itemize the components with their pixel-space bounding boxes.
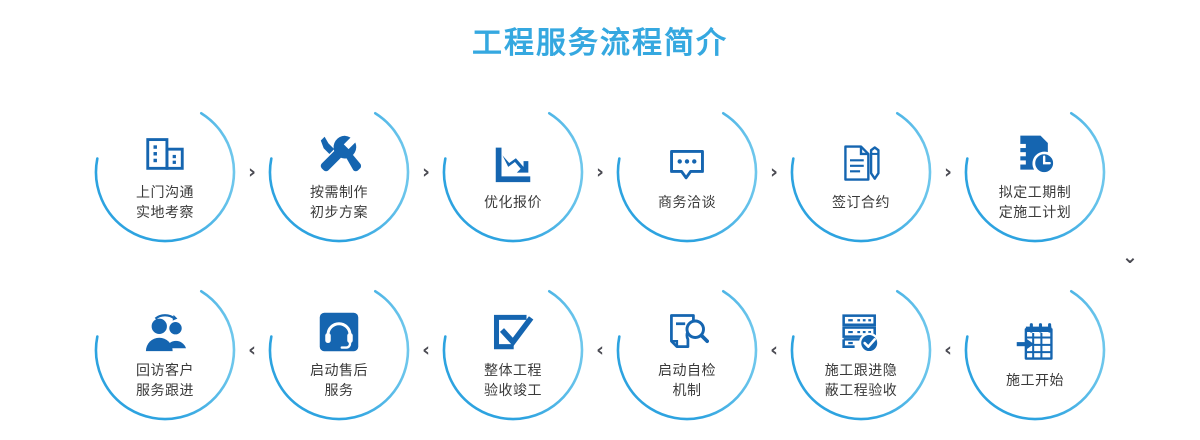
flow-step-content: 施工开始 [977, 310, 1093, 390]
flow-arrow-right: › [414, 160, 438, 184]
document-search-icon [661, 304, 713, 354]
flow-arrow-left: ‹ [762, 338, 786, 362]
declining-chart-icon [487, 136, 539, 186]
flow-step-label: 优化报价 [484, 192, 542, 212]
flow-step-youhua-baojia[interactable]: 优化报价 [438, 97, 588, 247]
flow-step-zhengti-gongcheng[interactable]: 整体工程 验收竣工 [438, 275, 588, 425]
flow-step-label: 商务洽谈 [658, 192, 716, 212]
flow-step-label: 启动售后 服务 [310, 360, 368, 400]
flow-step-label: 拟定工期制 定施工计划 [999, 182, 1072, 222]
flow-step-label: 启动自检 机制 [658, 360, 716, 400]
flow-step-label: 回访客户 服务跟进 [136, 360, 194, 400]
flow-step-shangwu-qiatan[interactable]: 商务洽谈 [612, 97, 762, 247]
flow-step-huifang-kehu[interactable]: 回访客户 服务跟进 [90, 275, 240, 425]
customers-icon [139, 304, 191, 354]
flow-step-content: 回访客户 服务跟进 [107, 300, 223, 400]
flow-step-qianding-heyue[interactable]: 签订合约 [786, 97, 936, 247]
flow-step-content: 签订合约 [803, 132, 919, 212]
headset-icon [313, 304, 365, 354]
flow-step-label: 签订合约 [832, 192, 890, 212]
flow-step-label: 按需制作 初步方案 [310, 182, 368, 222]
flow-step-shangmen-goutong[interactable]: 上门沟通 实地考察 [90, 97, 240, 247]
flow-step-content: 上门沟通 实地考察 [107, 122, 223, 222]
flow-arrow-right: › [762, 160, 786, 184]
flow-step-qidong-shouhou[interactable]: 启动售后 服务 [264, 275, 414, 425]
flow-row-1: 上门沟通 实地考察 › 按需制作 初步方案 › [0, 92, 1200, 252]
flow-step-label: 施工开始 [1006, 370, 1064, 390]
contract-pen-icon [835, 136, 887, 186]
flow-row-2: 回访客户 服务跟进 ‹ 启动售后 服务 [0, 270, 1200, 430]
server-check-icon [835, 304, 887, 354]
flow-step-shigong-genjin[interactable]: 施工跟进隐 蔽工程验收 [786, 275, 936, 425]
calendar-start-icon [1009, 314, 1061, 364]
checkbox-check-icon [487, 304, 539, 354]
speech-bubble-icon [661, 136, 713, 186]
tools-icon [313, 126, 365, 176]
flow-step-content: 启动售后 服务 [281, 300, 397, 400]
document-clock-icon [1009, 126, 1061, 176]
flow-step-content: 施工跟进隐 蔽工程验收 [803, 300, 919, 400]
process-flow-diagram: 上门沟通 实地考察 › 按需制作 初步方案 › [0, 92, 1200, 430]
flow-arrow-left: ‹ [588, 338, 612, 362]
flow-step-qidong-zijian[interactable]: 启动自检 机制 [612, 275, 762, 425]
flow-step-shigong-kaishi[interactable]: 施工开始 [960, 275, 1110, 425]
flow-arrow-left: ‹ [240, 338, 264, 362]
flow-step-content: 按需制作 初步方案 [281, 122, 397, 222]
flow-step-label: 整体工程 验收竣工 [484, 360, 542, 400]
flow-arrow-left: ‹ [414, 338, 438, 362]
flow-arrow-right: › [588, 160, 612, 184]
flow-arrow-right: › [936, 160, 960, 184]
flow-arrow-left: ‹ [936, 338, 960, 362]
flow-step-content: 拟定工期制 定施工计划 [977, 122, 1093, 222]
flow-step-label: 上门沟通 实地考察 [136, 182, 194, 222]
flow-step-content: 启动自检 机制 [629, 300, 745, 400]
flow-step-niding-gongqi[interactable]: 拟定工期制 定施工计划 [960, 97, 1110, 247]
flow-step-content: 商务洽谈 [629, 132, 745, 212]
flow-step-anxu-zhizuo[interactable]: 按需制作 初步方案 [264, 97, 414, 247]
building-icon [139, 126, 191, 176]
flow-step-content: 优化报价 [455, 132, 571, 212]
flow-step-content: 整体工程 验收竣工 [455, 300, 571, 400]
flow-step-label: 施工跟进隐 蔽工程验收 [825, 360, 898, 400]
flow-arrow-down: ⌄ [1118, 246, 1142, 268]
page-title: 工程服务流程简介 [0, 24, 1200, 64]
flow-arrow-right: › [240, 160, 264, 184]
